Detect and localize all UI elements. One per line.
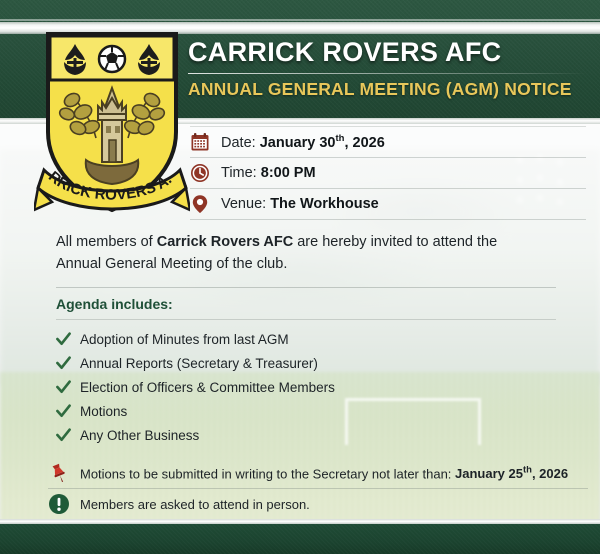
list-item: Annual Reports (Secretary & Treasurer)	[56, 352, 556, 376]
detail-text-venue: Venue: The Workhouse	[221, 196, 379, 212]
clock-icon	[190, 163, 210, 183]
meeting-details: Date: January 30th, 2026 Time: 8:00 PM V…	[190, 126, 586, 220]
detail-label-date: Date:	[221, 135, 256, 151]
note-row-motions: Motions to be submitted in writing to th…	[48, 458, 588, 489]
note-deadline-date: January 25	[455, 466, 523, 481]
detail-value-venue: The Workhouse	[270, 196, 379, 212]
soccer-ball	[99, 46, 125, 72]
calendar-icon	[190, 132, 210, 152]
exclamation-circle-icon	[48, 493, 70, 515]
detail-value-date: January 30	[260, 135, 336, 151]
note-deadline-suffix: th	[523, 465, 532, 476]
note-row-attendance: Members are asked to attend in person.	[48, 489, 588, 519]
note-text-attendance: Members are asked to attend in person.	[80, 497, 310, 512]
intro-club-name: Carrick Rovers AFC	[157, 234, 293, 250]
check-icon	[56, 404, 71, 419]
detail-label-venue: Venue:	[221, 196, 266, 212]
detail-label-time: Time:	[221, 165, 257, 181]
agenda-item-label: Annual Reports (Secretary & Treasurer)	[80, 356, 318, 371]
check-icon	[56, 428, 71, 443]
agenda-item-label: Adoption of Minutes from last AGM	[80, 332, 289, 347]
agenda-list: Adoption of Minutes from last AGM Annual…	[56, 328, 556, 448]
note-text-prefix: Motions to be submitted in writing to th…	[80, 466, 455, 481]
detail-row-date: Date: January 30th, 2026	[190, 126, 586, 158]
agenda-item-label: Motions	[80, 404, 127, 419]
check-icon	[56, 332, 71, 347]
list-item: Adoption of Minutes from last AGM	[56, 328, 556, 352]
intro-divider	[56, 287, 556, 288]
title-block: CARRICK ROVERS AFC ANNUAL GENERAL MEETIN…	[188, 38, 586, 100]
agenda-divider	[56, 319, 556, 320]
footer-notes: Motions to be submitted in writing to th…	[48, 458, 588, 519]
list-item: Election of Officers & Committee Members	[56, 376, 556, 400]
pushpin-icon	[48, 462, 70, 484]
title-divider	[188, 73, 586, 74]
agenda-item-label: Any Other Business	[80, 428, 199, 443]
page-title: CARRICK ROVERS AFC	[188, 38, 586, 66]
agm-notice-poster: CARRICK ROVERS A.F.C. CARRICK ROVERS AFC…	[0, 0, 600, 554]
detail-row-time: Time: 8:00 PM	[190, 158, 586, 189]
club-crest: CARRICK ROVERS A.F.C.	[34, 28, 190, 218]
detail-row-venue: Venue: The Workhouse	[190, 189, 586, 220]
detail-value-date-tail: , 2026	[344, 135, 384, 151]
header-top-hairline	[0, 19, 600, 21]
body-section: All members of Carrick Rovers AFC are he…	[56, 232, 556, 448]
detail-text-time: Time: 8:00 PM	[221, 165, 316, 181]
note-text-motions: Motions to be submitted in writing to th…	[80, 465, 568, 481]
check-icon	[56, 380, 71, 395]
intro-paragraph: All members of Carrick Rovers AFC are he…	[56, 232, 526, 276]
check-icon	[56, 356, 71, 371]
list-item: Any Other Business	[56, 424, 556, 448]
list-item: Motions	[56, 400, 556, 424]
intro-prefix: All members of	[56, 234, 157, 250]
page-subtitle: ANNUAL GENERAL MEETING (AGM) NOTICE	[188, 79, 586, 100]
location-pin-icon	[190, 194, 210, 214]
agenda-heading: Agenda includes:	[56, 296, 556, 312]
agenda-item-label: Election of Officers & Committee Members	[80, 380, 335, 395]
detail-value-time: 8:00 PM	[261, 165, 316, 181]
footer-band	[0, 524, 600, 554]
note-deadline-tail: , 2026	[532, 466, 568, 481]
detail-text-date: Date: January 30th, 2026	[221, 133, 385, 151]
